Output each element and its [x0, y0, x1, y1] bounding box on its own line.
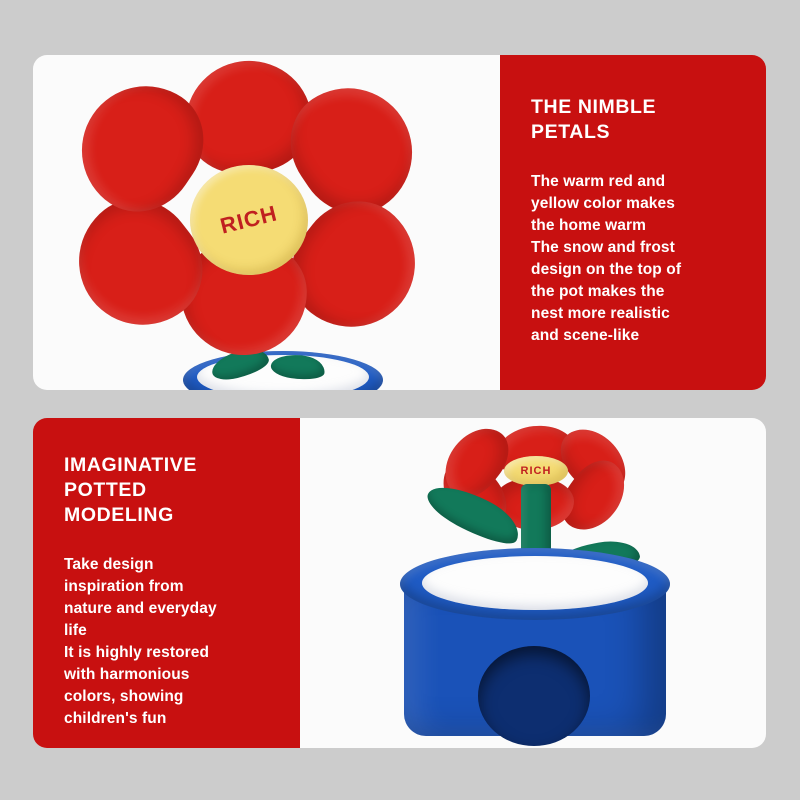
potted-modeling-copy: IMAGINATIVE POTTED MODELING Take design …	[64, 453, 289, 730]
nimble-petals-headline: THE NIMBLE PETALS	[531, 95, 745, 145]
feature-panel-nimble-petals: RICH THE NIMBLE PETALS The warm red and …	[33, 55, 766, 390]
flower-center-label: RICH	[521, 465, 552, 477]
feature-panel-imaginative-potted-modeling: IMAGINATIVE POTTED MODELING Take design …	[33, 418, 766, 748]
pot-snow-topper	[422, 556, 648, 610]
pot-cave-opening	[478, 646, 590, 746]
potted-modeling-headline: IMAGINATIVE POTTED MODELING	[64, 453, 289, 528]
potted-modeling-text-pane: IMAGINATIVE POTTED MODELING Take design …	[33, 418, 300, 748]
nimble-petals-body: The warm red and yellow color makes the …	[531, 171, 745, 347]
flower-closeup-artwork: RICH	[33, 55, 500, 390]
nimble-petals-copy: THE NIMBLE PETALS The warm red and yello…	[531, 95, 745, 347]
flower-center-disc: RICH	[504, 456, 568, 486]
flower-center-disc: RICH	[190, 165, 308, 275]
nimble-petals-text-pane: THE NIMBLE PETALS The warm red and yello…	[500, 55, 766, 390]
flower-center-label: RICH	[218, 200, 280, 239]
flower-closeup-photo: RICH	[33, 55, 500, 390]
potted-modeling-body: Take design inspiration from nature and …	[64, 554, 289, 730]
potted-flower-artwork: RICH	[300, 418, 766, 748]
potted-flower-photo: RICH	[300, 418, 766, 748]
product-feature-collage: RICH THE NIMBLE PETALS The warm red and …	[0, 0, 800, 800]
